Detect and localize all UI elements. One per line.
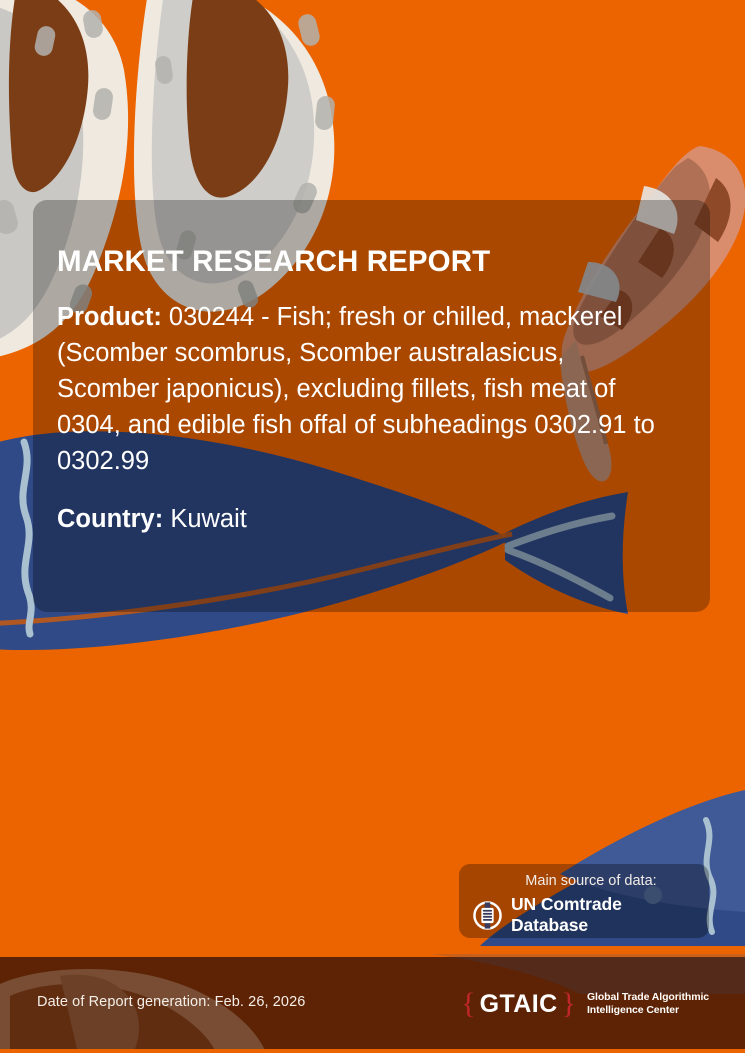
gtaic-tagline-line2: Intelligence Center (587, 1004, 709, 1017)
data-source-caption: Main source of data: (473, 873, 695, 890)
gtaic-tagline-line1: Global Trade Algorithmic (587, 991, 709, 1004)
page-footer: Date of Report generation: Feb. 26, 2026… (0, 954, 745, 1053)
brace-close-icon: } (562, 989, 576, 1019)
gtaic-wordmark: { GTAIC } (461, 989, 576, 1019)
product-field: Product: 030244 - Fish; fresh or chilled… (57, 300, 668, 480)
data-source-name: UN Comtrade Database (511, 894, 695, 936)
gtaic-logo: { GTAIC } Global Trade Algorithmic Intel… (461, 989, 709, 1019)
gtaic-name: GTAIC (480, 992, 558, 1017)
data-source-row: UN Comtrade Database (473, 894, 695, 936)
footer-top-strip (0, 954, 745, 957)
un-comtrade-icon (473, 901, 502, 930)
footer-bottom-strip (0, 1049, 745, 1053)
product-label: Product: (57, 303, 162, 331)
data-source-badge: Main source of data: UN Comtrade Databas… (459, 864, 709, 938)
country-field: Country: Kuwait (57, 502, 668, 538)
page-title: MARKET RESEARCH REPORT (57, 246, 668, 278)
country-label: Country: (57, 505, 163, 533)
report-generation-date: Date of Report generation: Feb. 26, 2026 (37, 994, 305, 1010)
country-value: Kuwait (170, 505, 247, 533)
brace-open-icon: { (461, 989, 475, 1019)
gtaic-tagline: Global Trade Algorithmic Intelligence Ce… (587, 991, 709, 1017)
report-cover-page: MARKET RESEARCH REPORT Product: 030244 -… (0, 0, 745, 1053)
report-info-card: MARKET RESEARCH REPORT Product: 030244 -… (33, 200, 710, 612)
